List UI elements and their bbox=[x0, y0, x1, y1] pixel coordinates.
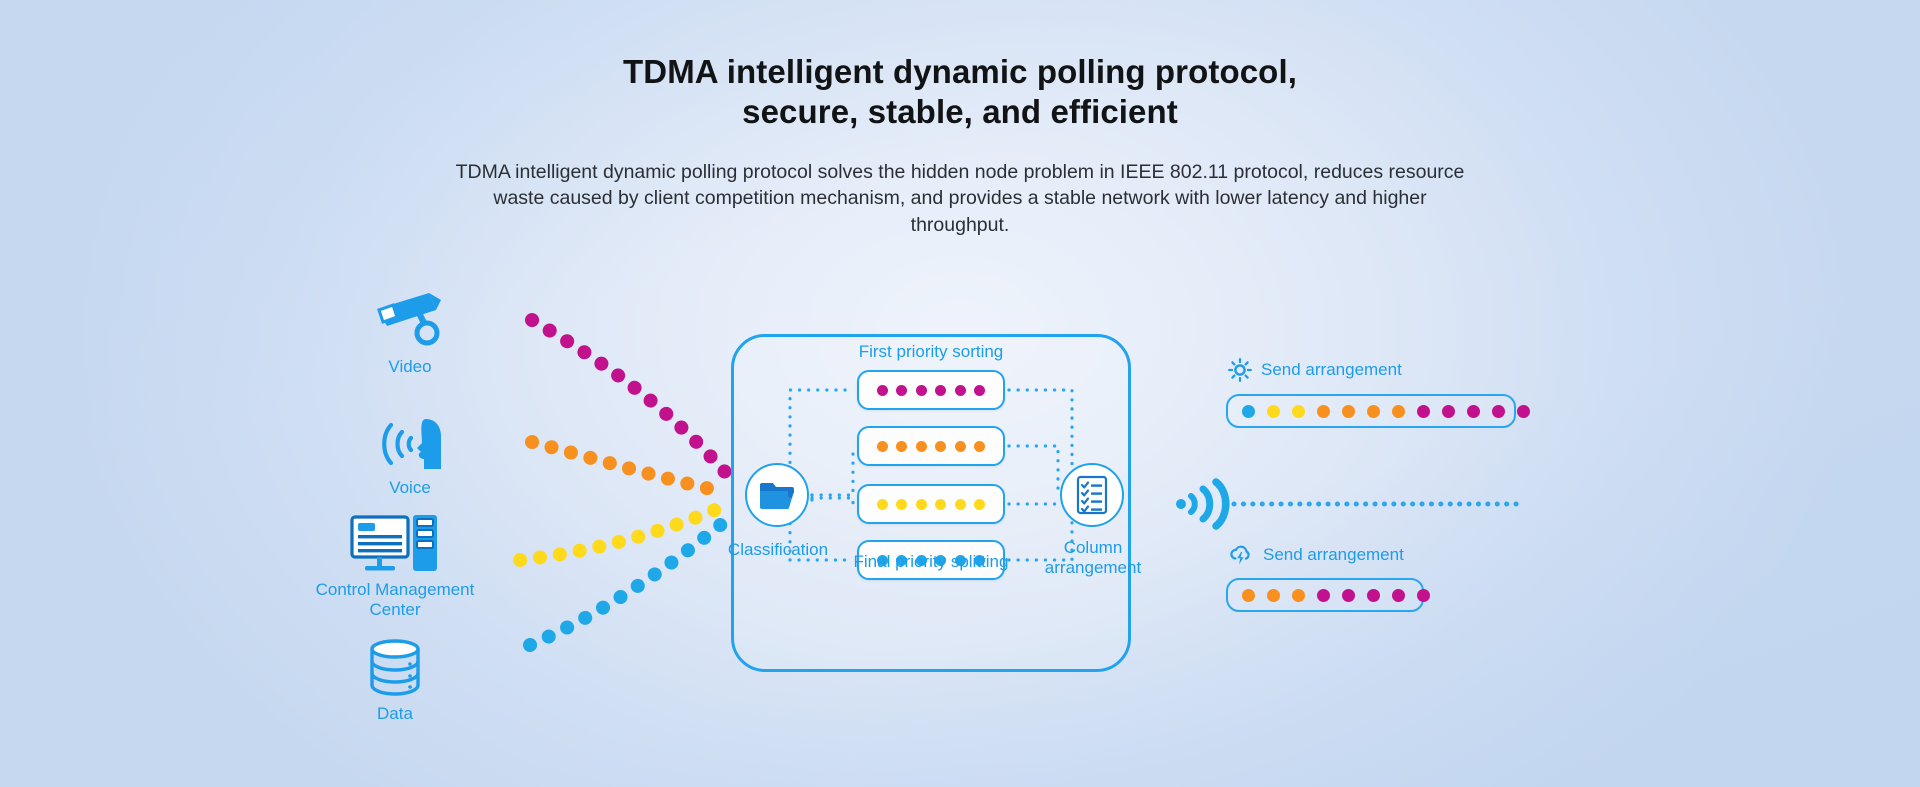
source-node-data[interactable]: Data bbox=[315, 637, 475, 724]
classification-label: Classification bbox=[703, 540, 853, 560]
lane-dot bbox=[974, 385, 985, 396]
output-slot-dot bbox=[1267, 405, 1280, 418]
cctv-camera-icon bbox=[330, 290, 490, 352]
trail-control-management-center bbox=[520, 506, 724, 560]
lane-dot bbox=[896, 385, 907, 396]
output-slot-dot bbox=[1392, 589, 1405, 602]
lane-dot bbox=[955, 441, 966, 452]
output-slot-dot bbox=[1342, 405, 1355, 418]
speaking-head-icon bbox=[330, 411, 490, 473]
source-label-voice: Voice bbox=[330, 478, 490, 498]
output-slot-dot bbox=[1367, 589, 1380, 602]
lane-dot bbox=[896, 441, 907, 452]
output-slot-dot bbox=[1242, 405, 1255, 418]
lane-dot bbox=[974, 441, 985, 452]
lane-dot bbox=[877, 441, 888, 452]
header: TDMA intelligent dynamic polling protoco… bbox=[0, 52, 1920, 238]
source-node-voice[interactable]: Voice bbox=[330, 411, 490, 498]
page-title-line-2: secure, stable, and efficient bbox=[742, 93, 1178, 130]
output-slot-dot bbox=[1367, 405, 1380, 418]
output-slot-dot bbox=[1342, 589, 1355, 602]
output-slot-dot bbox=[1292, 589, 1305, 602]
lane-dot bbox=[896, 499, 907, 510]
lane-dot bbox=[955, 499, 966, 510]
page-title: TDMA intelligent dynamic polling protoco… bbox=[0, 52, 1920, 133]
source-label-control-management-center: Control Management Center bbox=[315, 580, 475, 620]
output-header-storm: Send arrangement bbox=[1228, 542, 1404, 568]
output-header-sun: Send arrangement bbox=[1228, 358, 1402, 382]
lane-dot bbox=[974, 499, 985, 510]
column-arrangement-label: Column arrangement bbox=[1012, 538, 1174, 578]
cloud-lightning-icon bbox=[1228, 542, 1254, 568]
priority-lane-yellow[interactable] bbox=[857, 484, 1005, 524]
output-slot-dot bbox=[1317, 405, 1330, 418]
output-label-sun: Send arrangement bbox=[1261, 360, 1402, 380]
sun-icon bbox=[1228, 358, 1252, 382]
lane-dot bbox=[955, 385, 966, 396]
lane-dot bbox=[877, 385, 888, 396]
lane-dot bbox=[877, 499, 888, 510]
source-label-video: Video bbox=[330, 357, 490, 377]
column-arrangement-node[interactable] bbox=[1060, 463, 1124, 527]
lane-dot bbox=[935, 499, 946, 510]
page-subtitle: TDMA intelligent dynamic polling protoco… bbox=[445, 159, 1475, 239]
output-slot-dot bbox=[1417, 589, 1430, 602]
output-slot-dot bbox=[1317, 589, 1330, 602]
monitor-server-icon bbox=[315, 513, 475, 575]
page-title-line-1: TDMA intelligent dynamic polling protoco… bbox=[623, 53, 1297, 90]
open-folder-icon bbox=[759, 480, 795, 510]
priority-lane-orange[interactable] bbox=[857, 426, 1005, 466]
output-slot-dot bbox=[1492, 405, 1505, 418]
final-priority-splitting-label: Final priority splitting bbox=[841, 552, 1021, 572]
transmission-dashed-line bbox=[1232, 501, 1522, 507]
wifi-signal-icon bbox=[1175, 478, 1231, 530]
output-slot-dot bbox=[1242, 589, 1255, 602]
database-icon bbox=[315, 637, 475, 699]
lane-dot bbox=[935, 385, 946, 396]
output-slot-bar-sun[interactable] bbox=[1226, 394, 1516, 428]
output-slot-dot bbox=[1292, 405, 1305, 418]
lane-dot bbox=[916, 441, 927, 452]
priority-lane-magenta[interactable] bbox=[857, 370, 1005, 410]
source-node-video[interactable]: Video bbox=[330, 290, 490, 377]
lane-dot bbox=[916, 385, 927, 396]
output-slot-dot bbox=[1467, 405, 1480, 418]
output-slot-dot bbox=[1517, 405, 1530, 418]
output-slot-dot bbox=[1417, 405, 1430, 418]
output-label-storm: Send arrangement bbox=[1263, 545, 1404, 565]
infographic-canvas: TDMA intelligent dynamic polling protoco… bbox=[0, 0, 1920, 787]
lane-dot bbox=[935, 441, 946, 452]
output-slot-dot bbox=[1392, 405, 1405, 418]
classification-node[interactable] bbox=[745, 463, 809, 527]
trail-data bbox=[530, 522, 724, 645]
output-slot-dot bbox=[1267, 589, 1280, 602]
output-slot-dot bbox=[1442, 405, 1455, 418]
lane-dot bbox=[916, 499, 927, 510]
source-label-data: Data bbox=[315, 704, 475, 724]
trail-video bbox=[532, 320, 725, 472]
trail-voice bbox=[532, 442, 724, 492]
first-priority-sorting-label: First priority sorting bbox=[851, 342, 1011, 362]
source-node-control-management-center[interactable]: Control Management Center bbox=[315, 513, 475, 620]
output-slot-bar-storm[interactable] bbox=[1226, 578, 1424, 612]
checklist-icon bbox=[1076, 476, 1108, 514]
